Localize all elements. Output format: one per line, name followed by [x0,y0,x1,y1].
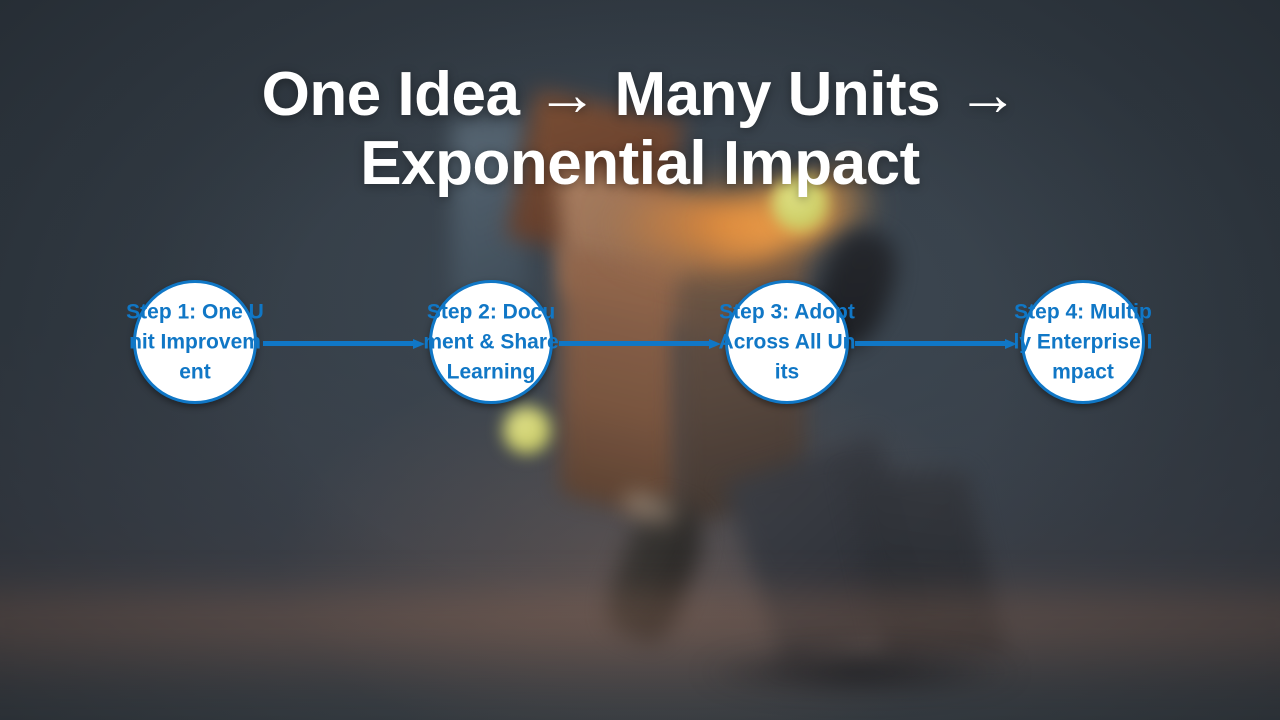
arrow-line [855,341,1006,346]
node-circle [725,280,849,404]
arrow-head-icon [413,339,425,349]
flow-node-step-2[interactable]: Step 2: Document & Share Learning [429,280,553,404]
flow-node-step-4[interactable]: Step 4: Multiply Enterprise Impact [1021,280,1145,404]
node-circle [1021,280,1145,404]
arrow-line [263,341,414,346]
flow-arrow-1-to-2 [263,339,425,348]
flow-node-step-3[interactable]: Step 3: Adopt Across All Units [725,280,849,404]
flow-node-step-1[interactable]: Step 1: One Unit Improvement [133,280,257,404]
flow-arrow-3-to-4 [855,339,1017,348]
arrow-head-icon [709,339,721,349]
node-circle [133,280,257,404]
slide-canvas: One Idea → Many Units → Exponential Impa… [0,0,1280,720]
flow-arrow-2-to-3 [559,339,721,348]
node-circle [429,280,553,404]
arrow-line [559,341,710,346]
arrow-head-icon [1005,339,1017,349]
process-flow-diagram: Step 1: One Unit Improvement Step 2: Doc… [0,0,1280,720]
